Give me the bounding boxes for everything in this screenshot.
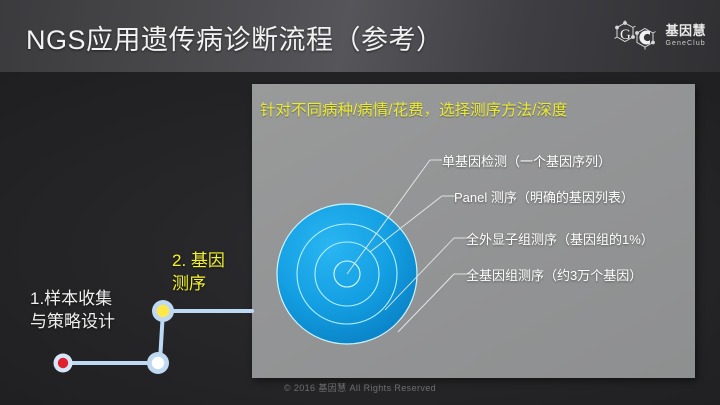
label-whole-genome: 全基因组测序（约3万个基因） [466,265,642,284]
svg-text:G: G [620,27,631,43]
flow-line-sample-to-seq [160,311,163,361]
page-title: NGS应用遗传病诊断流程（参考） [26,18,444,57]
label-single-gene-test: 单基因检测（一个基因序列） [442,151,611,170]
flow-label-step2: 2. 基因 测序 [172,250,225,296]
label-whole-exome: 全外显子组测序（基因组的1%） [466,229,654,248]
flow-node-sample [147,352,169,374]
flow-label-step1-line2: 与策略设计 [30,311,115,334]
flow-label-step1-line1: 1.样本收集 [30,288,115,311]
content-panel: 针对不同病种/病情/花费，选择测序方法/深度 [252,84,695,378]
footer-copyright: © 2016 基因慧 All Rights Reserved [0,381,720,394]
geneclub-hexagon-gc-logo-icon: G [614,20,660,50]
logo-wordmark: 基因慧 GeneClub [665,24,706,47]
logo-name-cn: 基因慧 [665,24,706,37]
slide-canvas: NGS应用遗传病诊断流程（参考） G [0,0,720,405]
slide-header: NGS应用遗传病诊断流程（参考） G [0,0,720,72]
logo-name-en: GeneClub [665,40,706,47]
flow-label-step2-line1: 2. 基因 [172,250,225,273]
flow-node-start [54,354,73,373]
flow-label-step1: 1.样本收集 与策略设计 [30,288,115,334]
flow-label-step2-line2: 测序 [172,273,225,296]
flow-node-sequencing [152,300,174,322]
label-panel-sequencing: Panel 测序（明确的基因列表） [454,187,634,206]
brand-logo: G 基因慧 GeneClub [614,20,706,50]
